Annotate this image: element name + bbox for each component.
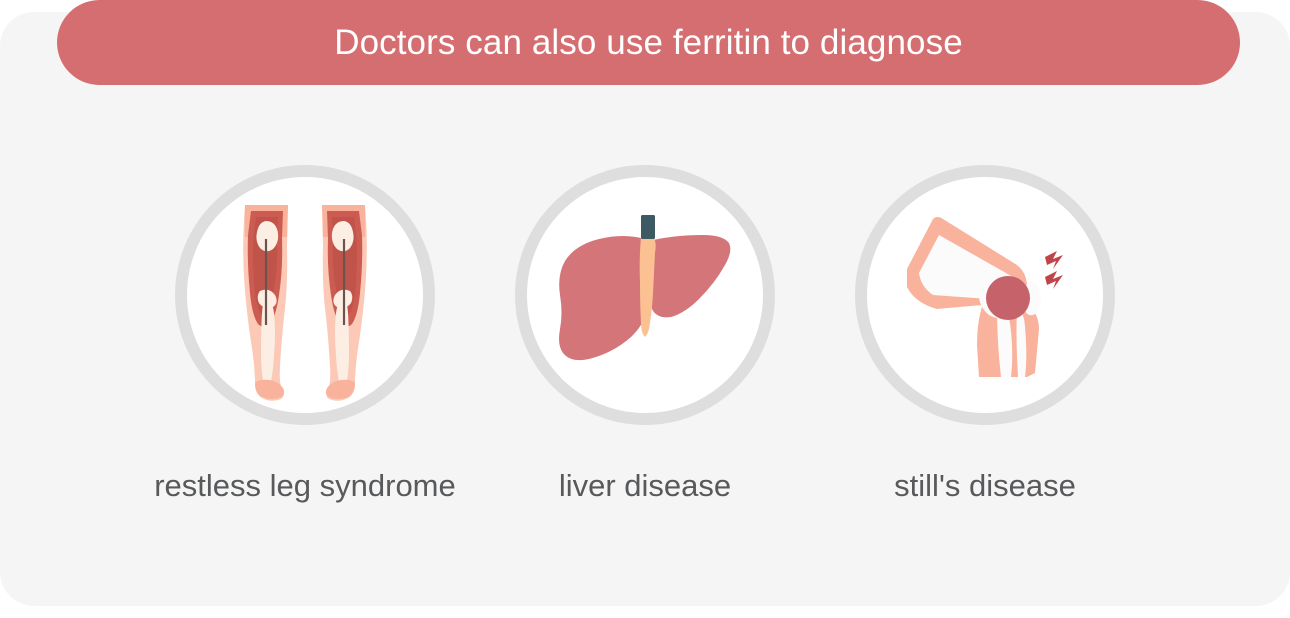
list-item[interactable]: restless leg syndrome	[135, 165, 475, 501]
list-item[interactable]: liver disease	[475, 165, 815, 501]
infographic-root: Doctors can also use ferritin to diagnos…	[0, 0, 1290, 618]
liver-icon	[527, 177, 763, 413]
icon-circle-knee	[855, 165, 1115, 425]
list-item-label: liver disease	[559, 470, 731, 501]
diagnosis-list: restless leg syndrome	[0, 165, 1290, 501]
page-title: Doctors can also use ferritin to diagnos…	[334, 25, 963, 60]
list-item-label: still's disease	[894, 470, 1076, 501]
knee-joint-icon	[867, 177, 1103, 413]
icon-circle-legs	[175, 165, 435, 425]
list-item[interactable]: still's disease	[815, 165, 1155, 501]
icon-circle-liver	[515, 165, 775, 425]
header-banner: Doctors can also use ferritin to diagnos…	[57, 0, 1240, 85]
list-item-label: restless leg syndrome	[154, 470, 456, 501]
legs-icon	[187, 177, 423, 413]
